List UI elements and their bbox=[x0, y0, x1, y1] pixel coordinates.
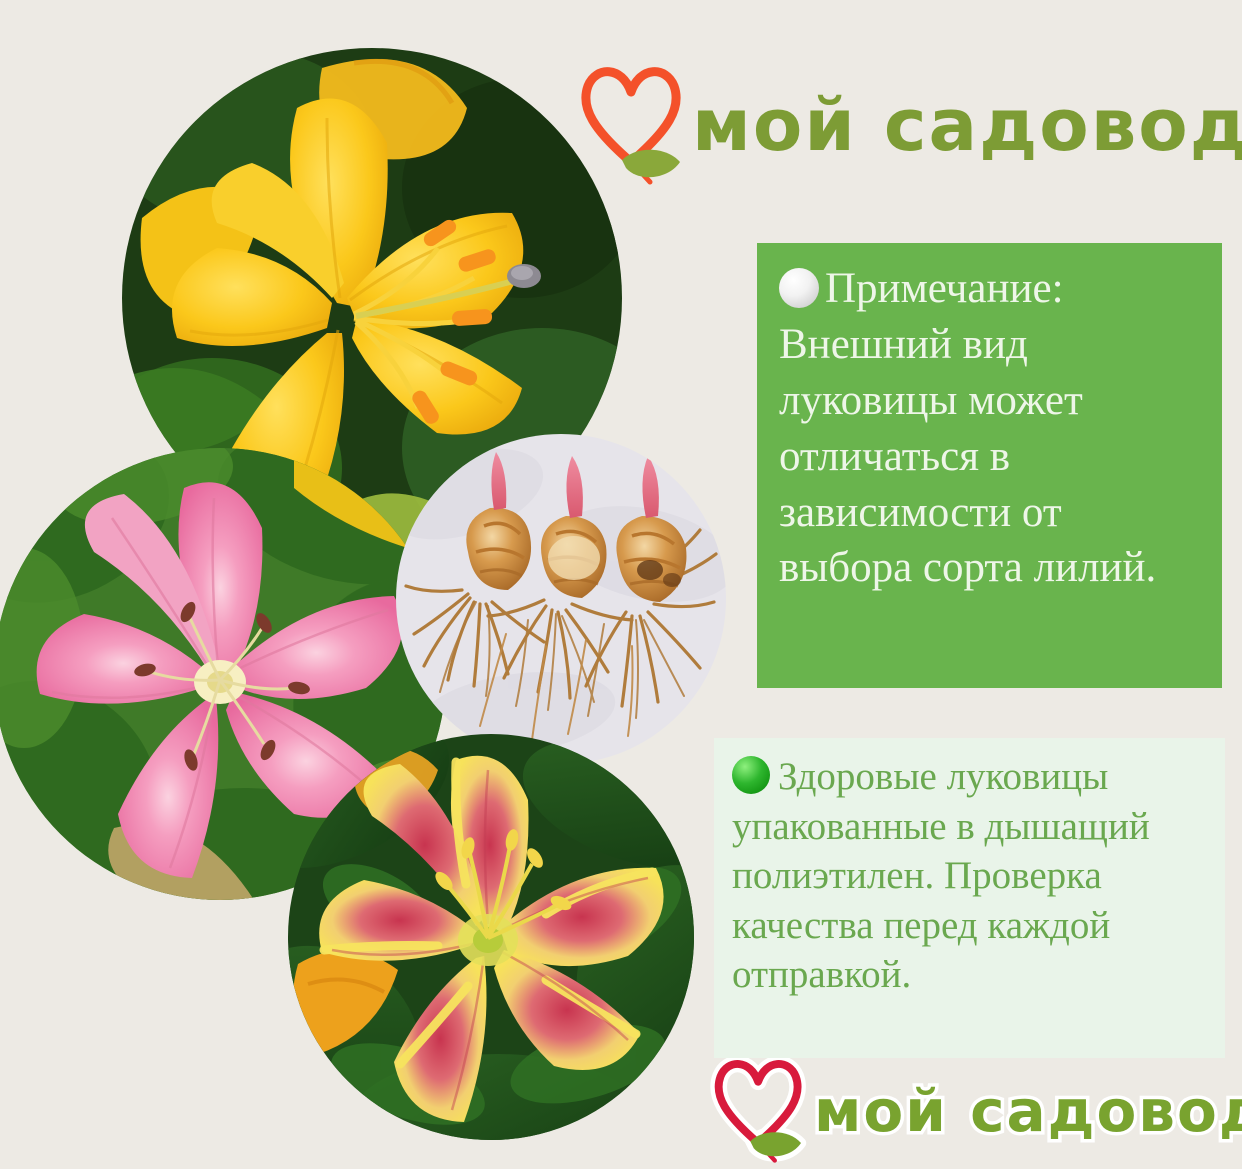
green-circle-bullet-icon bbox=[732, 756, 770, 794]
packing-text: Здоровые луковицы упакованные в дышащий … bbox=[732, 755, 1150, 996]
brand-logo-bottom: мой садовод bbox=[706, 1052, 1222, 1164]
heart-leaf-icon bbox=[576, 58, 688, 191]
photo-bicolor-lily bbox=[288, 734, 694, 1140]
grey-circle-bullet-icon bbox=[779, 268, 819, 308]
heart-leaf-icon-bottom bbox=[706, 1052, 812, 1169]
note-callout-box: Примечание: Внешний вид луковицы может о… bbox=[757, 243, 1222, 688]
brand-wordmark-top: мой садовод bbox=[692, 89, 1242, 161]
poster-canvas: мой садовод мой садовод Примечание: Внеш… bbox=[0, 0, 1242, 1164]
brand-logo-top: мой садовод bbox=[576, 58, 1224, 198]
note-text: Примечание: Внешний вид луковицы может о… bbox=[779, 265, 1156, 591]
brand-wordmark-bottom: мой садовод bbox=[814, 1077, 1242, 1145]
packing-callout-box: Здоровые луковицы упакованные в дышащий … bbox=[714, 738, 1225, 1058]
photo-lily-bulbs bbox=[396, 434, 726, 764]
